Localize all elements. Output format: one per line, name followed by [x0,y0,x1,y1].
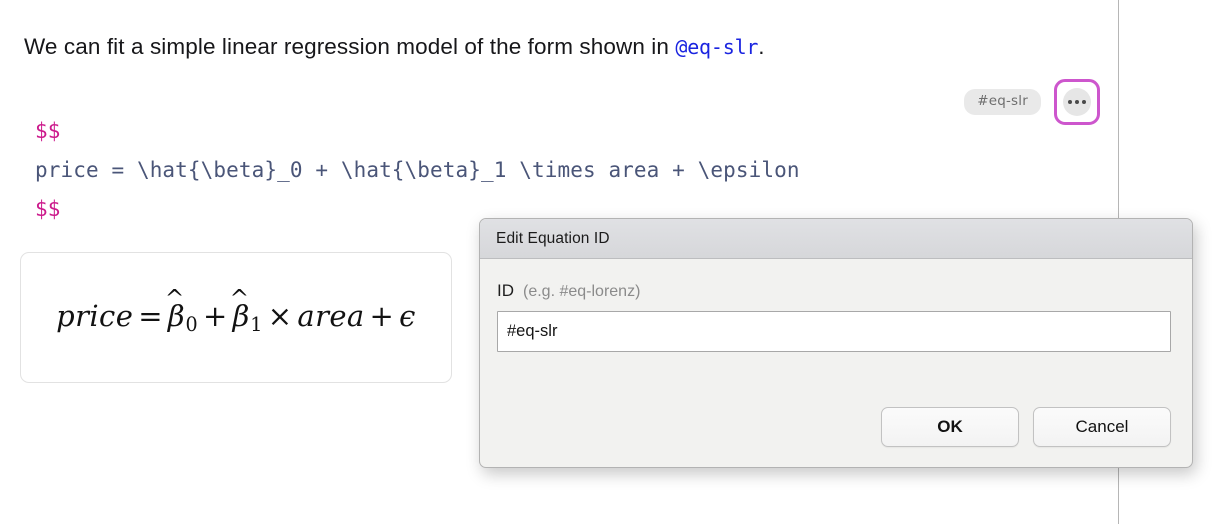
math-lhs: price [56,299,133,333]
math-subscript-1: 1 [250,313,263,336]
id-field-label-row: ID (e.g. #eq-lorenz) [497,281,1171,301]
math-beta-hat-1: ^β [233,299,250,333]
math-subscript-0: 0 [185,313,198,336]
cross-reference-link[interactable]: @eq-slr [675,35,758,59]
cancel-button[interactable]: Cancel [1033,407,1171,447]
math-plus-1: + [198,299,233,333]
id-field-hint: (e.g. #eq-lorenz) [523,283,640,301]
dialog-button-row: OK Cancel [480,407,1192,467]
math-beta-hat-0: ^β [168,299,185,333]
math-plus-2: + [365,299,400,333]
math-preview-box: price=^β0+^β1×area+ϵ [20,252,452,383]
editor-canvas: We can fit a simple linear regression mo… [0,0,1219,524]
prose-text-after: . [758,34,764,59]
prose-text-before: We can fit a simple linear regression mo… [24,34,675,59]
math-hat-mark: ^ [230,285,250,312]
math-area: area [297,299,364,333]
prose-paragraph: We can fit a simple linear regression mo… [24,30,765,64]
ok-button[interactable]: OK [881,407,1019,447]
dialog-body: ID (e.g. #eq-lorenz) [480,259,1192,407]
dialog-title: Edit Equation ID [496,230,610,248]
math-close-delimiter: $$ [35,197,61,221]
equation-controls: #eq-slr [964,79,1100,125]
math-open-delimiter: $$ [35,119,61,143]
dialog-titlebar: Edit Equation ID [480,219,1192,259]
math-preview-formula: price=^β0+^β1×area+ϵ [56,299,416,337]
id-field-label: ID [497,281,514,301]
math-times: × [263,299,298,333]
math-epsilon: ϵ [399,299,416,333]
latex-source-block[interactable]: $$ price = \hat{\beta}_0 + \hat{\beta}_1… [35,112,800,229]
math-equals: = [133,299,168,333]
kebab-horizontal-icon [1063,88,1091,116]
id-input[interactable] [497,311,1171,352]
latex-equation-line: price = \hat{\beta}_0 + \hat{\beta}_1 \t… [35,158,800,182]
equation-id-badge: #eq-slr [964,89,1041,116]
math-hat-mark: ^ [165,285,185,312]
edit-equation-id-dialog: Edit Equation ID ID (e.g. #eq-lorenz) OK… [479,218,1193,468]
equation-menu-button[interactable] [1054,79,1100,125]
